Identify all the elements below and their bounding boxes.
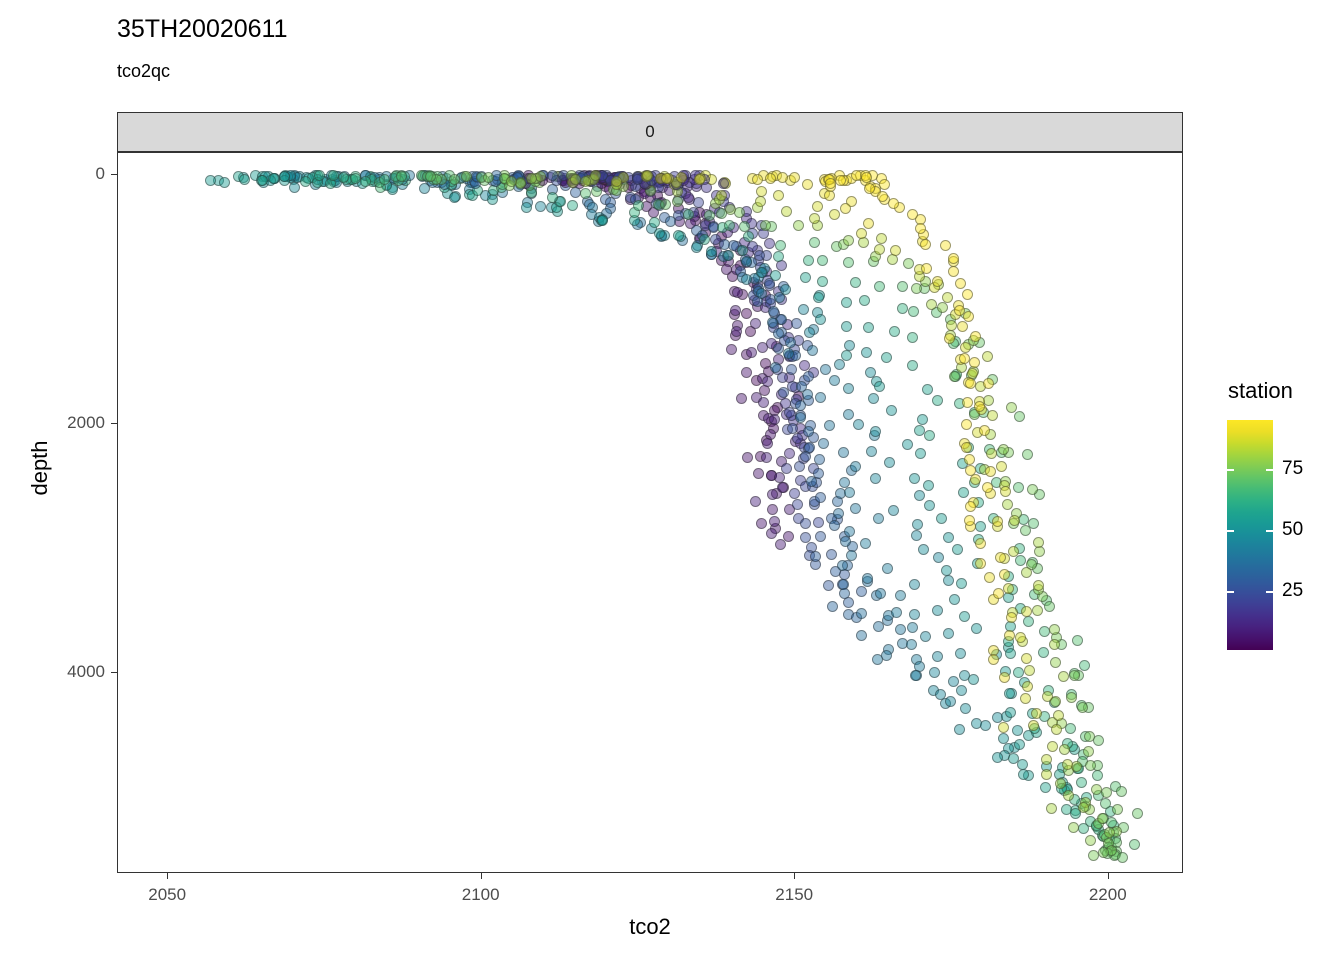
scatter-point — [964, 515, 975, 526]
scatter-point — [807, 345, 818, 356]
legend: station 755025 — [1210, 378, 1344, 658]
scatter-point — [1112, 804, 1123, 815]
scatter-point — [758, 397, 769, 408]
y-tick-label: 0 — [96, 164, 105, 184]
scatter-point — [794, 461, 805, 472]
scatter-point — [736, 393, 747, 404]
scatter-point — [914, 490, 925, 501]
scatter-point — [1013, 482, 1024, 493]
scatter-point — [948, 266, 959, 277]
scatter-point — [795, 400, 806, 411]
scatter-point — [1002, 499, 1013, 510]
scatter-point — [1063, 790, 1074, 801]
scatter-point — [937, 302, 948, 313]
scatter-point — [841, 350, 852, 361]
scatter-point — [909, 579, 920, 590]
scatter-point — [706, 246, 717, 257]
scatter-point — [961, 419, 972, 430]
scatter-point — [956, 685, 967, 696]
scatter-point — [1097, 813, 1108, 824]
scatter-point — [1132, 808, 1143, 819]
scatter-point — [844, 340, 855, 351]
scatter-point — [770, 362, 781, 373]
scatter-point — [866, 446, 877, 457]
scatter-point — [944, 333, 955, 344]
legend-tick-label: 75 — [1282, 458, 1303, 480]
scatter-point — [300, 176, 311, 187]
scatter-point — [920, 631, 931, 642]
scatter-point — [912, 519, 923, 530]
scatter-point — [933, 552, 944, 563]
scatter-point — [239, 174, 250, 185]
scatter-point — [874, 281, 885, 292]
scatter-point — [1088, 850, 1099, 861]
scatter-point — [877, 191, 888, 202]
scatter-point — [752, 174, 763, 185]
y-tick-mark — [111, 174, 117, 175]
scatter-point — [1021, 653, 1032, 664]
scatter-point — [731, 326, 742, 337]
scatter-point — [1023, 616, 1034, 627]
scatter-point — [773, 328, 784, 339]
scatter-point — [940, 240, 951, 251]
scatter-point — [449, 192, 460, 203]
scatter-point — [1047, 741, 1058, 752]
scatter-point — [850, 503, 861, 514]
scatter-point — [791, 318, 802, 329]
scatter-point — [897, 281, 908, 292]
legend-tick-mark — [1227, 469, 1234, 471]
scatter-point — [838, 447, 849, 458]
scatter-point — [396, 171, 407, 182]
scatter-point — [987, 410, 998, 421]
scatter-point — [673, 230, 684, 241]
scatter-point — [800, 518, 811, 529]
scatter-point — [975, 558, 986, 569]
scatter-point — [876, 233, 887, 244]
scatter-point — [1024, 665, 1035, 676]
scatter-point — [874, 381, 885, 392]
scatter-point — [1020, 693, 1031, 704]
scatter-point — [988, 654, 999, 665]
scatter-point — [918, 544, 929, 555]
scatter-point — [986, 448, 997, 459]
scatter-point — [946, 320, 957, 331]
scatter-point — [999, 569, 1010, 580]
x-tick-label: 2100 — [462, 885, 500, 905]
scatter-point — [718, 178, 729, 189]
scatter-point — [829, 520, 840, 531]
scatter-point — [649, 217, 660, 228]
scatter-point — [775, 240, 786, 251]
scatter-point — [960, 342, 971, 353]
scatter-point — [985, 466, 996, 477]
scatter-point — [949, 594, 960, 605]
scatter-point — [999, 672, 1010, 683]
scatter-point — [840, 536, 851, 547]
scatter-point — [879, 179, 890, 190]
scatter-point — [723, 250, 734, 261]
scatter-point — [1003, 583, 1014, 594]
scatter-point — [909, 609, 920, 620]
scatter-point — [804, 327, 815, 338]
scatter-point — [829, 209, 840, 220]
scatter-point — [1006, 612, 1017, 623]
scatter-point — [767, 504, 778, 515]
scatter-point — [1046, 803, 1057, 814]
scatter-point — [360, 176, 371, 187]
scatter-point — [890, 245, 901, 256]
scatter-point — [783, 531, 794, 542]
scatter-point — [959, 353, 970, 364]
scatter-point — [1129, 839, 1140, 850]
scatter-point — [962, 289, 973, 300]
x-tick-mark — [481, 873, 482, 879]
scatter-point — [753, 468, 764, 479]
scatter-point — [924, 430, 935, 441]
scatter-point — [815, 392, 826, 403]
scatter-point — [506, 176, 517, 187]
scatter-point — [1072, 635, 1083, 646]
scatter-point — [775, 539, 786, 550]
scatter-point — [907, 622, 918, 633]
scatter-point — [956, 578, 967, 589]
scatter-point — [827, 601, 838, 612]
legend-tick-mark — [1266, 469, 1273, 471]
scatter-point — [906, 639, 917, 650]
scatter-point — [289, 182, 300, 193]
scatter-point — [755, 196, 766, 207]
scatter-point — [665, 216, 676, 227]
scatter-point — [786, 364, 797, 375]
scatter-point — [884, 457, 895, 468]
scatter-point — [943, 575, 954, 586]
scatter-point — [762, 376, 773, 387]
scatter-point — [773, 251, 784, 262]
scatter-point — [975, 521, 986, 532]
scatter-point — [766, 528, 777, 539]
scatter-point — [886, 405, 897, 416]
scatter-point — [756, 288, 767, 299]
scatter-point — [1092, 770, 1103, 781]
scatter-point — [943, 628, 954, 639]
scatter-point — [1034, 546, 1045, 557]
y-axis-title: depth — [27, 398, 53, 538]
scatter-point — [932, 276, 943, 287]
scatter-point — [957, 321, 968, 332]
scatter-point — [1059, 744, 1070, 755]
scatter-point — [1044, 601, 1055, 612]
scatter-point — [844, 487, 855, 498]
scatter-point — [907, 360, 918, 371]
scatter-point — [812, 201, 823, 212]
y-tick-mark — [111, 423, 117, 424]
scatter-point — [1077, 702, 1088, 713]
scatter-point — [860, 538, 871, 549]
scatter-point — [823, 580, 834, 591]
scatter-point — [633, 200, 644, 211]
scatter-point — [800, 272, 811, 283]
scatter-point — [958, 487, 969, 498]
legend-tick-label: 25 — [1282, 580, 1303, 602]
scatter-point — [1076, 777, 1087, 788]
scatter-point — [770, 270, 781, 281]
scatter-point — [874, 244, 885, 255]
plot-subtitle: tco2qc — [117, 60, 170, 82]
scatter-point — [642, 170, 653, 181]
scatter-point — [792, 499, 803, 510]
scatter-point — [742, 452, 753, 463]
scatter-point — [982, 351, 993, 362]
scatter-point — [1028, 720, 1039, 731]
scatter-point — [1101, 787, 1112, 798]
scatter-point — [205, 175, 216, 186]
scatter-point — [219, 177, 230, 188]
scatter-point — [829, 375, 840, 386]
scatter-point — [932, 651, 943, 662]
scatter-point — [789, 172, 800, 183]
scatter-point — [887, 254, 898, 265]
scatter-point — [870, 473, 881, 484]
scatter-point — [750, 496, 761, 507]
scatter-point — [778, 387, 789, 398]
facet-strip: 0 — [117, 112, 1183, 152]
scatter-point — [941, 565, 952, 576]
scatter-point — [996, 461, 1007, 472]
legend-tick-mark — [1266, 591, 1273, 593]
scatter-point — [1000, 486, 1011, 497]
scatter-point — [1049, 624, 1060, 635]
x-axis-title: tco2 — [117, 914, 1183, 940]
scatter-point — [903, 258, 914, 269]
scatter-point — [891, 607, 902, 618]
scatter-point — [1022, 681, 1033, 692]
scatter-point — [895, 624, 906, 635]
scatter-point — [515, 178, 526, 189]
scatter-point — [741, 367, 752, 378]
scatter-point — [850, 461, 861, 472]
scatter-point — [817, 255, 828, 266]
scatter-point — [1021, 567, 1032, 578]
scatter-point — [841, 321, 852, 332]
scatter-point — [279, 171, 290, 182]
legend-tick-mark — [1227, 591, 1234, 593]
scatter-point — [1008, 546, 1019, 557]
scatter-point — [694, 174, 705, 185]
scatter-point — [964, 454, 975, 465]
plot-panel — [117, 152, 1183, 873]
scatter-point — [1078, 823, 1089, 834]
scatter-point — [843, 257, 854, 268]
legend-title: station — [1228, 378, 1293, 404]
scatter-point — [993, 588, 1004, 599]
legend-tick-mark — [1227, 530, 1234, 532]
scatter-point — [954, 724, 965, 735]
scatter-point — [814, 454, 825, 465]
scatter-point — [795, 412, 806, 423]
scatter-point — [840, 203, 851, 214]
scatter-point — [844, 526, 855, 537]
scatter-point — [955, 648, 966, 659]
scatter-point — [1038, 647, 1049, 658]
scatter-point — [923, 480, 934, 491]
scatter-point — [945, 696, 956, 707]
scatter-point — [780, 284, 791, 295]
scatter-point — [1083, 746, 1094, 757]
scatter-point — [833, 508, 844, 519]
scatter-point — [881, 352, 892, 363]
scatter-point — [882, 563, 893, 574]
scatter-point — [818, 438, 829, 449]
scatter-point — [853, 419, 864, 430]
scatter-point — [1014, 411, 1025, 422]
scatter-point — [907, 332, 918, 343]
y-tick-label: 4000 — [67, 662, 105, 682]
scatter-point — [868, 393, 879, 404]
x-tick-mark — [167, 873, 168, 879]
scatter-point — [764, 238, 775, 249]
scatter-point — [1033, 537, 1044, 548]
scatter-point — [875, 588, 886, 599]
scatter-point — [704, 210, 715, 221]
scatter-point — [864, 183, 875, 194]
scatter-point — [1005, 707, 1016, 718]
scatter-point — [802, 179, 813, 190]
scatter-point — [859, 295, 870, 306]
scatter-point — [743, 231, 754, 242]
scatter-point — [803, 371, 814, 382]
x-tick-mark — [1108, 873, 1109, 879]
scatter-point — [968, 674, 979, 685]
scatter-point — [936, 513, 947, 524]
scatter-point — [924, 500, 935, 511]
scatter-point — [983, 378, 994, 389]
scatter-point — [961, 442, 972, 453]
scatter-point — [1041, 754, 1052, 765]
scatter-point — [809, 237, 820, 248]
x-tick-label: 2150 — [775, 885, 813, 905]
scatter-point — [902, 439, 913, 450]
scatter-point — [979, 425, 990, 436]
scatter-point — [815, 531, 826, 542]
scatter-point — [676, 172, 687, 183]
scatter-point — [741, 256, 752, 267]
scatter-point — [1017, 759, 1028, 770]
scatter-point — [962, 397, 973, 408]
scatter-point — [817, 276, 828, 287]
scatter-point — [726, 344, 737, 355]
scatter-point — [773, 190, 784, 201]
scatter-point — [856, 630, 867, 641]
scatter-point — [660, 199, 671, 210]
scatter-point — [820, 364, 831, 375]
scatter-point — [929, 667, 940, 678]
scatter-point — [769, 414, 780, 425]
scatter-point — [850, 277, 861, 288]
scatter-point — [998, 722, 1009, 733]
scatter-point — [597, 215, 608, 226]
page-title: 35TH20020611 — [117, 14, 288, 44]
scatter-point — [257, 175, 268, 186]
scatter-point — [873, 621, 884, 632]
scatter-point — [910, 670, 921, 681]
scatter-point — [1050, 657, 1061, 668]
scatter-point — [724, 220, 735, 231]
scatter-point — [765, 173, 776, 184]
scatter-point — [580, 188, 591, 199]
scatter-point — [965, 465, 976, 476]
scatter-point — [841, 297, 852, 308]
scatter-point — [654, 228, 665, 239]
scatter-point — [992, 752, 1003, 763]
scatter-point — [1058, 671, 1069, 682]
scatter-point — [974, 401, 985, 412]
scatter-point — [843, 383, 854, 394]
scatter-point — [1015, 555, 1026, 566]
scatter-point — [1041, 769, 1052, 780]
scatter-point — [856, 608, 867, 619]
scatter-point — [813, 517, 824, 528]
scatter-point — [756, 186, 767, 197]
scatter-point — [932, 605, 943, 616]
scatter-point — [915, 448, 926, 459]
scatter-point — [1005, 648, 1016, 659]
scatter-point — [824, 420, 835, 431]
scatter-point — [825, 178, 836, 189]
scatter-point — [856, 586, 867, 597]
scatter-point — [1018, 769, 1029, 780]
scatter-point — [1066, 692, 1077, 703]
scatter-point — [1085, 835, 1096, 846]
scatter-point — [1055, 778, 1066, 789]
scatter-point — [971, 623, 982, 634]
scatter-point — [521, 202, 532, 213]
scatter-point — [804, 442, 815, 453]
scatter-point — [952, 544, 963, 555]
scatter-point — [863, 218, 874, 229]
scatter-point — [803, 255, 814, 266]
scatter-point — [1116, 786, 1127, 797]
legend-colorbar[interactable] — [1227, 420, 1273, 650]
scatter-point — [932, 395, 943, 406]
scatter-point — [911, 530, 922, 541]
scatter-point — [843, 235, 854, 246]
scatter-point — [781, 206, 792, 217]
scatter-point — [762, 438, 773, 449]
scatter-point — [802, 389, 813, 400]
scatter-point — [861, 347, 872, 358]
scatter-point — [889, 326, 900, 337]
scatter-point — [567, 200, 578, 211]
x-tick-mark — [794, 873, 795, 879]
scatter-point — [1098, 847, 1109, 858]
scatter-point — [815, 314, 826, 325]
scatter-point — [943, 532, 954, 543]
scatter-point — [843, 409, 854, 420]
scatter-point — [803, 426, 814, 437]
scatter-point — [1068, 822, 1079, 833]
scatter-point — [908, 306, 919, 317]
scatter-point — [942, 292, 953, 303]
scatter-point — [699, 234, 710, 245]
scatter-point — [895, 590, 906, 601]
scatter-point — [824, 190, 835, 201]
scatter-point — [1117, 852, 1128, 863]
scatter-point — [1051, 724, 1062, 735]
scatter-point — [897, 303, 908, 314]
scatter-point — [863, 322, 874, 333]
scatter-point — [959, 611, 970, 622]
